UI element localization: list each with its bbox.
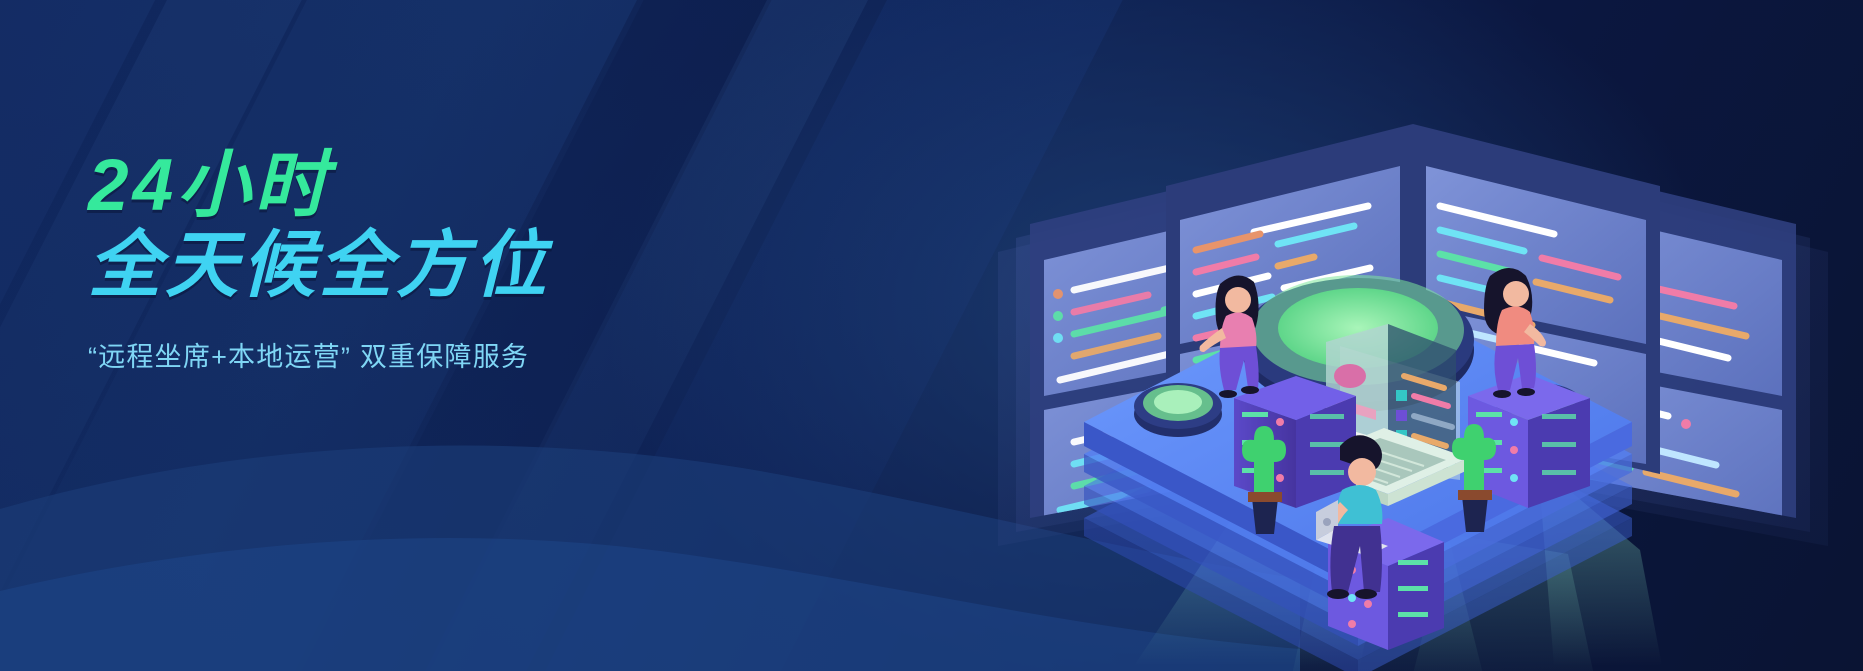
woman-head-right	[1503, 281, 1529, 307]
man-body	[1336, 485, 1382, 524]
page-subtitle: “远程坐席+本地运营” 双重保障服务	[88, 335, 728, 374]
glow-pad-left	[1134, 383, 1222, 437]
promo-banner: 24小时 全天候全方位 “远程坐席+本地运营” 双重保障服务	[0, 0, 1863, 671]
man-head	[1348, 458, 1376, 486]
woman-body-left	[1220, 312, 1257, 350]
woman-head-left	[1225, 287, 1251, 313]
headline-block: 24小时 全天候全方位 “远程坐席+本地运营” 双重保障服务	[88, 150, 728, 374]
page-title-line-2: 全天候全方位	[88, 230, 728, 302]
illustration-isometric-data-center	[848, 0, 1863, 671]
page-title-line-1: 24小时	[88, 150, 728, 222]
